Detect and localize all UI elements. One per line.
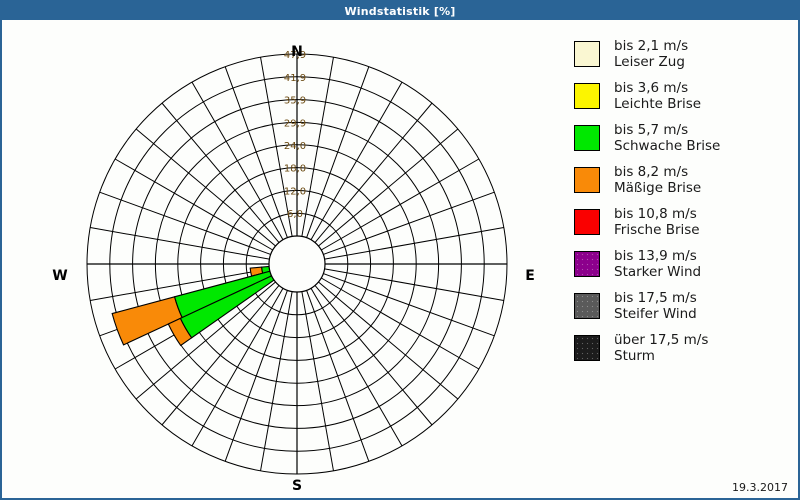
wind-statistics-window: Windstatistik [%] 6,012,018,024,029,935,… xyxy=(0,0,800,500)
legend-color-swatch xyxy=(574,167,600,193)
compass-label-south: S xyxy=(277,478,317,494)
legend-beaufort-name: Starker Wind xyxy=(614,264,701,280)
legend-label: bis 10,8 m/sFrische Brise xyxy=(614,206,700,239)
radial-tick-label: 29,9 xyxy=(284,118,306,129)
legend-beaufort-name: Schwache Brise xyxy=(614,138,720,154)
compass-label-east: E xyxy=(510,268,550,284)
legend-color-swatch xyxy=(574,209,600,235)
wind-petal-segment xyxy=(112,297,182,345)
legend-beaufort-name: Steifer Wind xyxy=(614,306,697,322)
date-stamp: 19.3.2017 xyxy=(732,481,788,494)
legend-item[interactable]: bis 17,5 m/sSteifer Wind xyxy=(574,290,792,323)
legend-speed-range: über 17,5 m/s xyxy=(614,332,708,348)
window-title: Windstatistik [%] xyxy=(344,5,455,18)
radial-tick-labels: 6,012,018,024,029,935,941,947,9 xyxy=(284,50,306,220)
legend-label: bis 13,9 m/sStarker Wind xyxy=(614,248,701,281)
legend-speed-range: bis 3,6 m/s xyxy=(614,80,701,96)
legend-color-swatch xyxy=(574,335,600,361)
legend-label: über 17,5 m/sSturm xyxy=(614,332,708,365)
compass-label-west: W xyxy=(40,268,80,284)
legend-beaufort-name: Mäßige Brise xyxy=(614,180,701,196)
legend-speed-range: bis 2,1 m/s xyxy=(614,38,688,54)
wind-rose-chart: 6,012,018,024,029,935,941,947,9 N S W E xyxy=(2,20,562,498)
window-content: 6,012,018,024,029,935,941,947,9 N S W E … xyxy=(2,20,798,498)
legend-label: bis 17,5 m/sSteifer Wind xyxy=(614,290,697,323)
legend-speed-range: bis 13,9 m/s xyxy=(614,248,701,264)
legend-color-swatch xyxy=(574,83,600,109)
radial-tick-label: 24,0 xyxy=(284,141,306,152)
radial-tick-label: 18,0 xyxy=(284,164,306,175)
legend-item[interactable]: bis 3,6 m/sLeichte Brise xyxy=(574,80,792,113)
legend-speed-range: bis 17,5 m/s xyxy=(614,290,697,306)
calm-circle xyxy=(269,236,325,292)
legend-item[interactable]: bis 13,9 m/sStarker Wind xyxy=(574,248,792,281)
legend-beaufort-name: Sturm xyxy=(614,348,708,364)
legend-speed-range: bis 8,2 m/s xyxy=(614,164,701,180)
calm-center xyxy=(269,236,325,292)
legend-item[interactable]: bis 5,7 m/sSchwache Brise xyxy=(574,122,792,155)
legend-speed-range: bis 10,8 m/s xyxy=(614,206,700,222)
radial-tick-label: 41,9 xyxy=(284,73,306,84)
legend-label: bis 2,1 m/sLeiser Zug xyxy=(614,38,688,71)
legend-color-swatch xyxy=(574,125,600,151)
legend-beaufort-name: Frische Brise xyxy=(614,222,700,238)
legend-label: bis 3,6 m/sLeichte Brise xyxy=(614,80,701,113)
legend-speed-range: bis 5,7 m/s xyxy=(614,122,720,138)
legend-item[interactable]: bis 2,1 m/sLeiser Zug xyxy=(574,38,792,71)
wind-rose-svg: 6,012,018,024,029,935,941,947,9 xyxy=(2,20,562,498)
legend-item[interactable]: über 17,5 m/sSturm xyxy=(574,332,792,365)
legend-color-swatch xyxy=(574,293,600,319)
radial-tick-label: 35,9 xyxy=(284,96,306,107)
wind-rose-petals xyxy=(112,266,274,345)
legend-label: bis 8,2 m/sMäßige Brise xyxy=(614,164,701,197)
window-titlebar: Windstatistik [%] xyxy=(2,2,798,20)
legend-label: bis 5,7 m/sSchwache Brise xyxy=(614,122,720,155)
wind-speed-legend: bis 2,1 m/sLeiser Zugbis 3,6 m/sLeichte … xyxy=(574,38,792,374)
legend-beaufort-name: Leichte Brise xyxy=(614,96,701,112)
radial-tick-label: 12,0 xyxy=(284,186,306,197)
legend-beaufort-name: Leiser Zug xyxy=(614,54,688,70)
legend-color-swatch xyxy=(574,41,600,67)
compass-label-north: N xyxy=(277,44,317,60)
legend-item[interactable]: bis 8,2 m/sMäßige Brise xyxy=(574,164,792,197)
legend-color-swatch xyxy=(574,251,600,277)
radial-tick-label: 6,0 xyxy=(287,209,303,220)
legend-item[interactable]: bis 10,8 m/sFrische Brise xyxy=(574,206,792,239)
